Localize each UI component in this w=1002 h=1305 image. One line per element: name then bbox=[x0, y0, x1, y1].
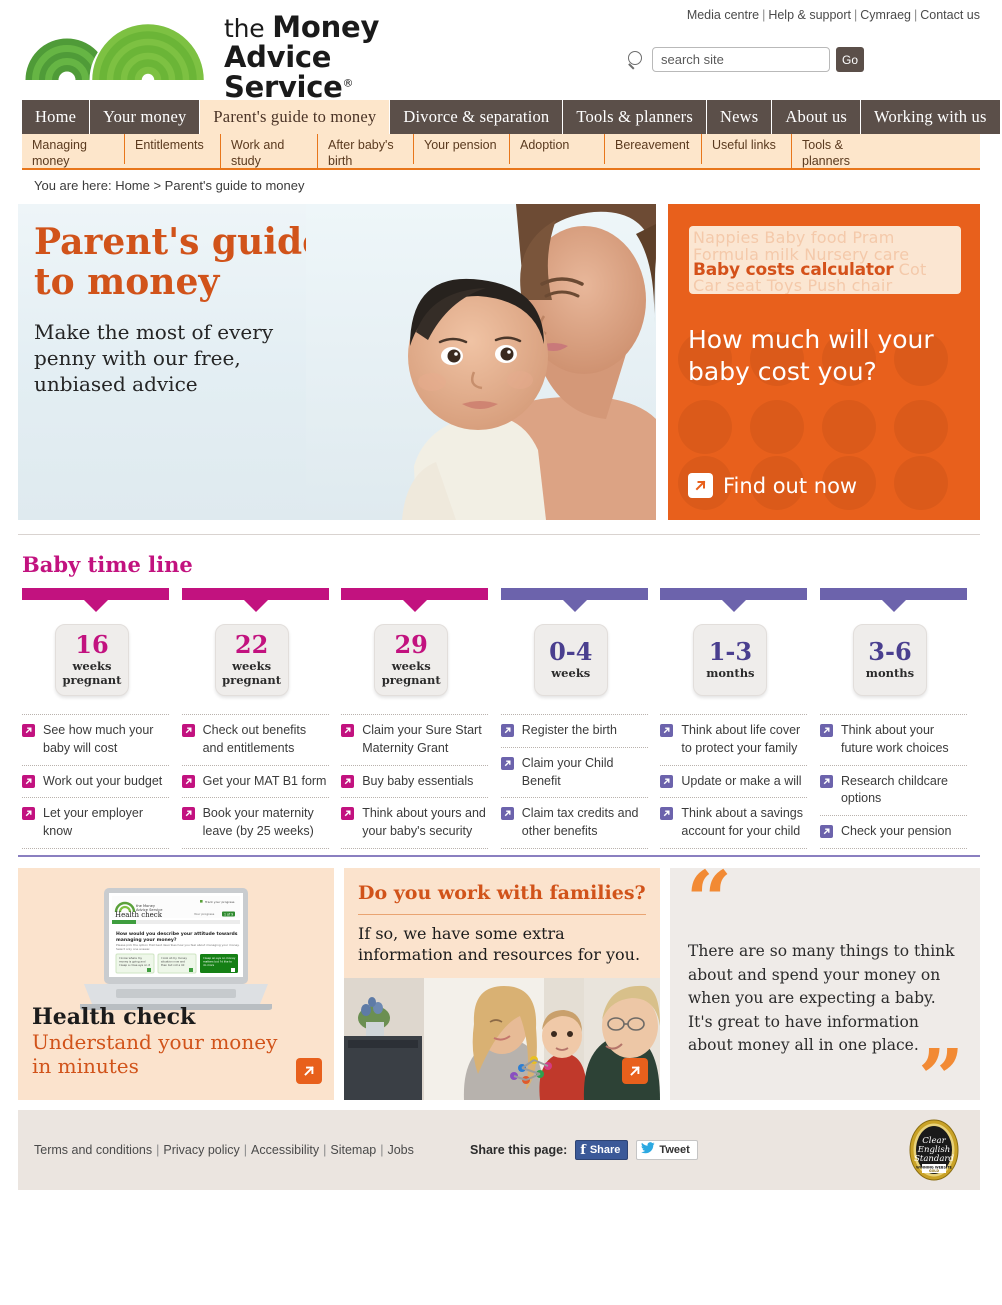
arrow-northeast-icon bbox=[182, 775, 195, 788]
hero-banner: Parent's guide to money Make the most of… bbox=[18, 204, 656, 520]
twitter-tweet-label: Tweet bbox=[659, 1144, 689, 1156]
timeline-badge-unit: weeks bbox=[551, 667, 590, 681]
link-separator: | bbox=[240, 1143, 251, 1157]
footer-link-privacy[interactable]: Privacy policy bbox=[163, 1143, 239, 1157]
find-out-now-label: Find out now bbox=[723, 474, 857, 498]
health-check-subtitle: Understand your money in minutes bbox=[32, 1030, 282, 1078]
promo-cards: the Money Advice Service Health check Tr… bbox=[18, 868, 980, 1100]
breadcrumb: You are here: Home > Parent's guide to m… bbox=[34, 178, 304, 193]
timeline-link-list: Think about life cover to protect your f… bbox=[660, 714, 807, 849]
rainbow-arches-logo-icon bbox=[22, 10, 217, 82]
nav-item-news[interactable]: News bbox=[707, 100, 772, 134]
search-input[interactable] bbox=[652, 47, 830, 72]
twitter-tweet-button[interactable]: Tweet bbox=[636, 1140, 697, 1160]
footer-link-accessibility[interactable]: Accessibility bbox=[251, 1143, 319, 1157]
link-separator: | bbox=[851, 8, 860, 22]
list-item[interactable]: Let your employer know bbox=[22, 797, 169, 849]
timeline-columns: 16 weekspregnant See how much your baby … bbox=[22, 588, 980, 849]
subnav-item-work-and-study[interactable]: Work and study bbox=[220, 134, 317, 169]
svg-text:Track your progress: Track your progress bbox=[204, 900, 235, 904]
page-root: the Money Advice Service® Media centre|H… bbox=[0, 0, 1002, 1305]
list-item[interactable]: Buy baby essentials bbox=[341, 765, 488, 798]
arrow-northeast-icon bbox=[22, 775, 35, 788]
families-arrow-button[interactable] bbox=[622, 1058, 648, 1084]
work-with-families-card[interactable]: Do you work with families? If so, we hav… bbox=[344, 868, 660, 1100]
timeline-badge-number: 1-3 bbox=[709, 640, 752, 664]
timeline-column-3-6-months: 3-6 months Think about your future work … bbox=[820, 588, 980, 849]
utility-links: Media centre|Help & support|Cymraeg|Cont… bbox=[687, 8, 980, 22]
share-label: Share this page: bbox=[470, 1143, 567, 1157]
timeline-column-16-weeks: 16 weekspregnant See how much your baby … bbox=[22, 588, 182, 849]
timeline-bar bbox=[182, 588, 329, 600]
arrow-northeast-icon bbox=[182, 724, 195, 737]
site-header: the Money Advice Service® Media centre|H… bbox=[0, 0, 1002, 98]
utility-link-cymraeg[interactable]: Cymraeg bbox=[860, 8, 911, 22]
svg-text:I keep a close eye on it: I keep a close eye on it bbox=[119, 963, 150, 967]
list-item-label: Let your employer know bbox=[43, 805, 169, 841]
subnav-item-after-babys-birth[interactable]: After baby's birth bbox=[317, 134, 413, 169]
timeline-bar bbox=[22, 588, 169, 600]
timeline-column-1-3-months: 1-3 months Think about life cover to pro… bbox=[660, 588, 820, 849]
svg-text:Select only one answer.: Select only one answer. bbox=[116, 947, 150, 951]
arrow-northeast-icon bbox=[22, 807, 35, 820]
subnav-item-tools-planners[interactable]: Tools & planners bbox=[791, 134, 901, 169]
facebook-share-button[interactable]: f Share bbox=[575, 1140, 628, 1160]
footer-links: Terms and conditions|Privacy policy|Acce… bbox=[34, 1143, 414, 1157]
arrow-northeast-icon bbox=[341, 775, 354, 788]
timeline-column-29-weeks: 29 weekspregnant Claim your Sure Start M… bbox=[341, 588, 501, 849]
timeline-column-22-weeks: 22 weekspregnant Check out benefits and … bbox=[182, 588, 342, 849]
arrow-northeast-icon bbox=[660, 724, 673, 737]
health-check-arrow-button[interactable] bbox=[296, 1058, 322, 1084]
nav-item-parents-guide-to-money[interactable]: Parent's guide to money bbox=[200, 100, 390, 134]
timeline-top-divider bbox=[18, 534, 980, 535]
timeline-badge-number: 22 bbox=[235, 633, 268, 657]
timeline-bottom-divider bbox=[18, 855, 980, 857]
list-item[interactable]: Get your MAT B1 form bbox=[182, 765, 329, 798]
list-item-label: Buy baby essentials bbox=[362, 773, 473, 791]
list-item-label: Research childcare options bbox=[841, 773, 967, 809]
nav-item-your-money[interactable]: Your money bbox=[90, 100, 200, 134]
nav-item-home[interactable]: Home bbox=[22, 100, 90, 134]
subnav-item-useful-links[interactable]: Useful links bbox=[701, 134, 791, 164]
arrow-northeast-icon bbox=[688, 473, 713, 498]
utility-link-media-centre[interactable]: Media centre bbox=[687, 8, 759, 22]
list-item[interactable]: Check your pension bbox=[820, 815, 967, 849]
footer-link-jobs[interactable]: Jobs bbox=[387, 1143, 413, 1157]
timeline-badge: 3-6 months bbox=[853, 624, 927, 696]
timeline-badge-unit: months bbox=[706, 667, 754, 681]
quote-close-mark: ” bbox=[918, 1048, 964, 1100]
svg-text:Health check: Health check bbox=[115, 911, 163, 919]
timeline-heading: Baby time line bbox=[22, 552, 193, 577]
quote-text: There are so many things to think about … bbox=[688, 940, 956, 1058]
list-item[interactable]: Claim tax credits and other benefits bbox=[501, 797, 648, 849]
timeline-column-0-4-weeks: 0-4 weeks Register the birth Claim your … bbox=[501, 588, 661, 849]
health-check-card[interactable]: the Money Advice Service Health check Tr… bbox=[18, 868, 334, 1100]
arrow-northeast-icon bbox=[182, 807, 195, 820]
timeline-bar bbox=[501, 588, 648, 600]
logo-line-2: Advice Service® bbox=[224, 42, 452, 102]
timeline-badge-number: 29 bbox=[394, 633, 427, 657]
families-heading: Do you work with families? bbox=[358, 882, 646, 904]
list-item-label: Think about your future work choices bbox=[841, 722, 967, 758]
timeline-badge-unit: months bbox=[866, 667, 914, 681]
link-separator: | bbox=[759, 8, 768, 22]
logo-wordmark: the Money Advice Service® bbox=[224, 12, 452, 102]
logo-line-1: the Money bbox=[224, 12, 452, 42]
site-footer: Terms and conditions|Privacy policy|Acce… bbox=[18, 1110, 980, 1190]
section-navigation: Managing money Entitlements Work and stu… bbox=[22, 134, 980, 170]
list-item-label: See how much your baby will cost bbox=[43, 722, 169, 758]
timeline-badge-number: 3-6 bbox=[868, 640, 911, 664]
list-item[interactable]: See how much your baby will cost bbox=[22, 714, 169, 765]
families-photo bbox=[344, 978, 660, 1100]
facebook-share-label: Share bbox=[590, 1144, 621, 1156]
subnav-item-adoption[interactable]: Adoption bbox=[509, 134, 604, 164]
link-separator: | bbox=[911, 8, 920, 22]
list-item[interactable]: Claim your Sure Start Maternity Grant bbox=[341, 714, 488, 765]
utility-link-contact-us[interactable]: Contact us bbox=[920, 8, 980, 22]
hero-photo-mother-and-baby bbox=[306, 204, 656, 520]
arrow-northeast-icon bbox=[341, 724, 354, 737]
list-item[interactable]: Book your maternity leave (by 25 weeks) bbox=[182, 797, 329, 849]
timeline-link-list: See how much your baby will cost Work ou… bbox=[22, 714, 169, 849]
families-subtitle: If so, we have some extra information an… bbox=[358, 923, 648, 966]
list-item-label: Think about a savings account for your c… bbox=[681, 805, 807, 841]
nav-item-working-with-us[interactable]: Working with us bbox=[861, 100, 1000, 134]
find-out-now-cta[interactable]: Find out now bbox=[688, 473, 857, 498]
search-icon bbox=[627, 51, 645, 69]
list-item[interactable]: Work out your budget bbox=[22, 765, 169, 798]
list-item-label: Update or make a will bbox=[681, 773, 801, 791]
arrow-northeast-icon bbox=[501, 757, 514, 770]
list-item-label: Check out benefits and entitlements bbox=[203, 722, 329, 758]
list-item[interactable]: Think about a savings account for your c… bbox=[660, 797, 807, 849]
list-item[interactable]: Check out benefits and entitlements bbox=[182, 714, 329, 765]
baby-costs-calculator-panel[interactable]: Nappies Baby food Pram Formula milk Nurs… bbox=[668, 204, 980, 520]
list-item-label: Work out your budget bbox=[43, 773, 162, 791]
timeline-bar bbox=[341, 588, 488, 600]
timeline-badge: 1-3 months bbox=[693, 624, 767, 696]
svg-text:do more: do more bbox=[203, 963, 215, 967]
timeline-badge-number: 16 bbox=[75, 633, 108, 657]
calculator-headline: How much will your baby cost you? bbox=[688, 324, 958, 388]
utility-link-help-support[interactable]: Help & support bbox=[768, 8, 851, 22]
timeline-badge-unit: weekspregnant bbox=[63, 660, 122, 687]
footer-link-terms[interactable]: Terms and conditions bbox=[34, 1143, 152, 1157]
list-item-label: Think about life cover to protect your f… bbox=[681, 722, 807, 758]
twitter-bird-icon bbox=[641, 1141, 655, 1159]
subnav-item-managing-money[interactable]: Managing money bbox=[22, 134, 124, 169]
facebook-icon: f bbox=[580, 1144, 586, 1157]
list-item-label: Register the birth bbox=[522, 722, 617, 740]
arrow-northeast-icon bbox=[660, 807, 673, 820]
arrow-northeast-icon bbox=[341, 807, 354, 820]
timeline-badge: 16 weekspregnant bbox=[55, 624, 129, 696]
arrow-northeast-icon bbox=[22, 724, 35, 737]
site-logo[interactable]: the Money Advice Service® bbox=[22, 6, 452, 86]
quote-open-mark: “ bbox=[686, 870, 732, 930]
list-item[interactable]: Register the birth bbox=[501, 714, 648, 747]
nav-item-about-us[interactable]: About us bbox=[772, 100, 861, 134]
timeline-badge: 29 weekspregnant bbox=[374, 624, 448, 696]
link-separator: | bbox=[376, 1143, 387, 1157]
arrow-northeast-icon bbox=[820, 724, 833, 737]
testimonial-card: “ There are so many things to think abou… bbox=[670, 868, 980, 1100]
search-bar: Go bbox=[627, 47, 864, 72]
svg-text:How would you describe your at: How would you describe your attitude tow… bbox=[116, 931, 238, 937]
clear-english-standard-seal: Clear English Standard WINNING WEBSITE G… bbox=[902, 1118, 966, 1182]
timeline-bar bbox=[820, 588, 967, 600]
timeline-link-list: Claim your Sure Start Maternity Grant Bu… bbox=[341, 714, 488, 849]
list-item-label: Book your maternity leave (by 25 weeks) bbox=[203, 805, 329, 841]
timeline-bar bbox=[660, 588, 807, 600]
timeline-badge: 0-4 weeks bbox=[534, 624, 608, 696]
list-item-label: Check your pension bbox=[841, 823, 951, 841]
timeline-badge-unit: weekspregnant bbox=[382, 660, 441, 687]
arrow-northeast-icon bbox=[820, 775, 833, 788]
health-check-text: Health check Understand your money in mi… bbox=[32, 1004, 282, 1078]
list-item[interactable]: Research childcare options bbox=[820, 765, 967, 816]
timeline-link-list: Check out benefits and entitlements Get … bbox=[182, 714, 329, 849]
timeline-link-list: Think about your future work choices Res… bbox=[820, 714, 967, 849]
laptop-screenshot: the Money Advice Service Health check Tr… bbox=[76, 886, 276, 1014]
wordcloud-row-4: Car seat Toys Push chair bbox=[693, 276, 959, 294]
list-item-label: Get your MAT B1 form bbox=[203, 773, 327, 791]
link-separator: | bbox=[319, 1143, 330, 1157]
link-separator: | bbox=[152, 1143, 163, 1157]
arrow-northeast-icon bbox=[820, 825, 833, 838]
health-check-title: Health check bbox=[32, 1004, 282, 1030]
word-cloud: Nappies Baby food Pram Formula milk Nurs… bbox=[689, 226, 961, 294]
list-item[interactable]: Think about your future work choices bbox=[820, 714, 967, 765]
list-item-label: Think about yours and your baby's securi… bbox=[362, 805, 488, 841]
list-item-label: Claim your Child Benefit bbox=[522, 755, 648, 791]
timeline-link-list: Register the birth Claim your Child Bene… bbox=[501, 714, 648, 849]
subnav-item-your-pension[interactable]: Your pension bbox=[413, 134, 509, 164]
families-divider bbox=[358, 914, 646, 915]
main-navigation: Home Your money Parent's guide to money … bbox=[22, 100, 980, 134]
list-item-label: Claim tax credits and other benefits bbox=[522, 805, 648, 841]
timeline-badge: 22 weekspregnant bbox=[215, 624, 289, 696]
list-item-label: Claim your Sure Start Maternity Grant bbox=[362, 722, 488, 758]
search-go-button[interactable]: Go bbox=[836, 47, 864, 72]
list-item[interactable]: Claim your Child Benefit bbox=[501, 747, 648, 798]
svg-text:1 of 9: 1 of 9 bbox=[224, 912, 233, 916]
list-item[interactable]: Update or make a will bbox=[660, 765, 807, 798]
arrow-northeast-icon bbox=[660, 775, 673, 788]
svg-text:Standard: Standard bbox=[914, 1154, 954, 1164]
footer-link-sitemap[interactable]: Sitemap bbox=[330, 1143, 376, 1157]
timeline-badge-number: 0-4 bbox=[549, 640, 592, 664]
subnav-item-entitlements[interactable]: Entitlements bbox=[124, 134, 220, 164]
hero-subtitle: Make the most of every penny with our fr… bbox=[34, 319, 334, 397]
list-item[interactable]: Think about yours and your baby's securi… bbox=[341, 797, 488, 849]
svg-text:then but not a lot: then but not a lot bbox=[161, 963, 185, 967]
nav-item-divorce-separation[interactable]: Divorce & separation bbox=[390, 100, 563, 134]
nav-item-tools-planners[interactable]: Tools & planners bbox=[563, 100, 707, 134]
list-item[interactable]: Think about life cover to protect your f… bbox=[660, 714, 807, 765]
arrow-northeast-icon bbox=[501, 807, 514, 820]
share-widget: Share this page: f Share Tweet bbox=[470, 1140, 698, 1160]
arrow-northeast-icon bbox=[501, 724, 514, 737]
timeline-badge-unit: weekspregnant bbox=[222, 660, 281, 687]
subnav-item-bereavement[interactable]: Bereavement bbox=[604, 134, 701, 164]
svg-text:Your progress: Your progress bbox=[194, 912, 215, 916]
svg-text:GOLD: GOLD bbox=[929, 1169, 939, 1173]
